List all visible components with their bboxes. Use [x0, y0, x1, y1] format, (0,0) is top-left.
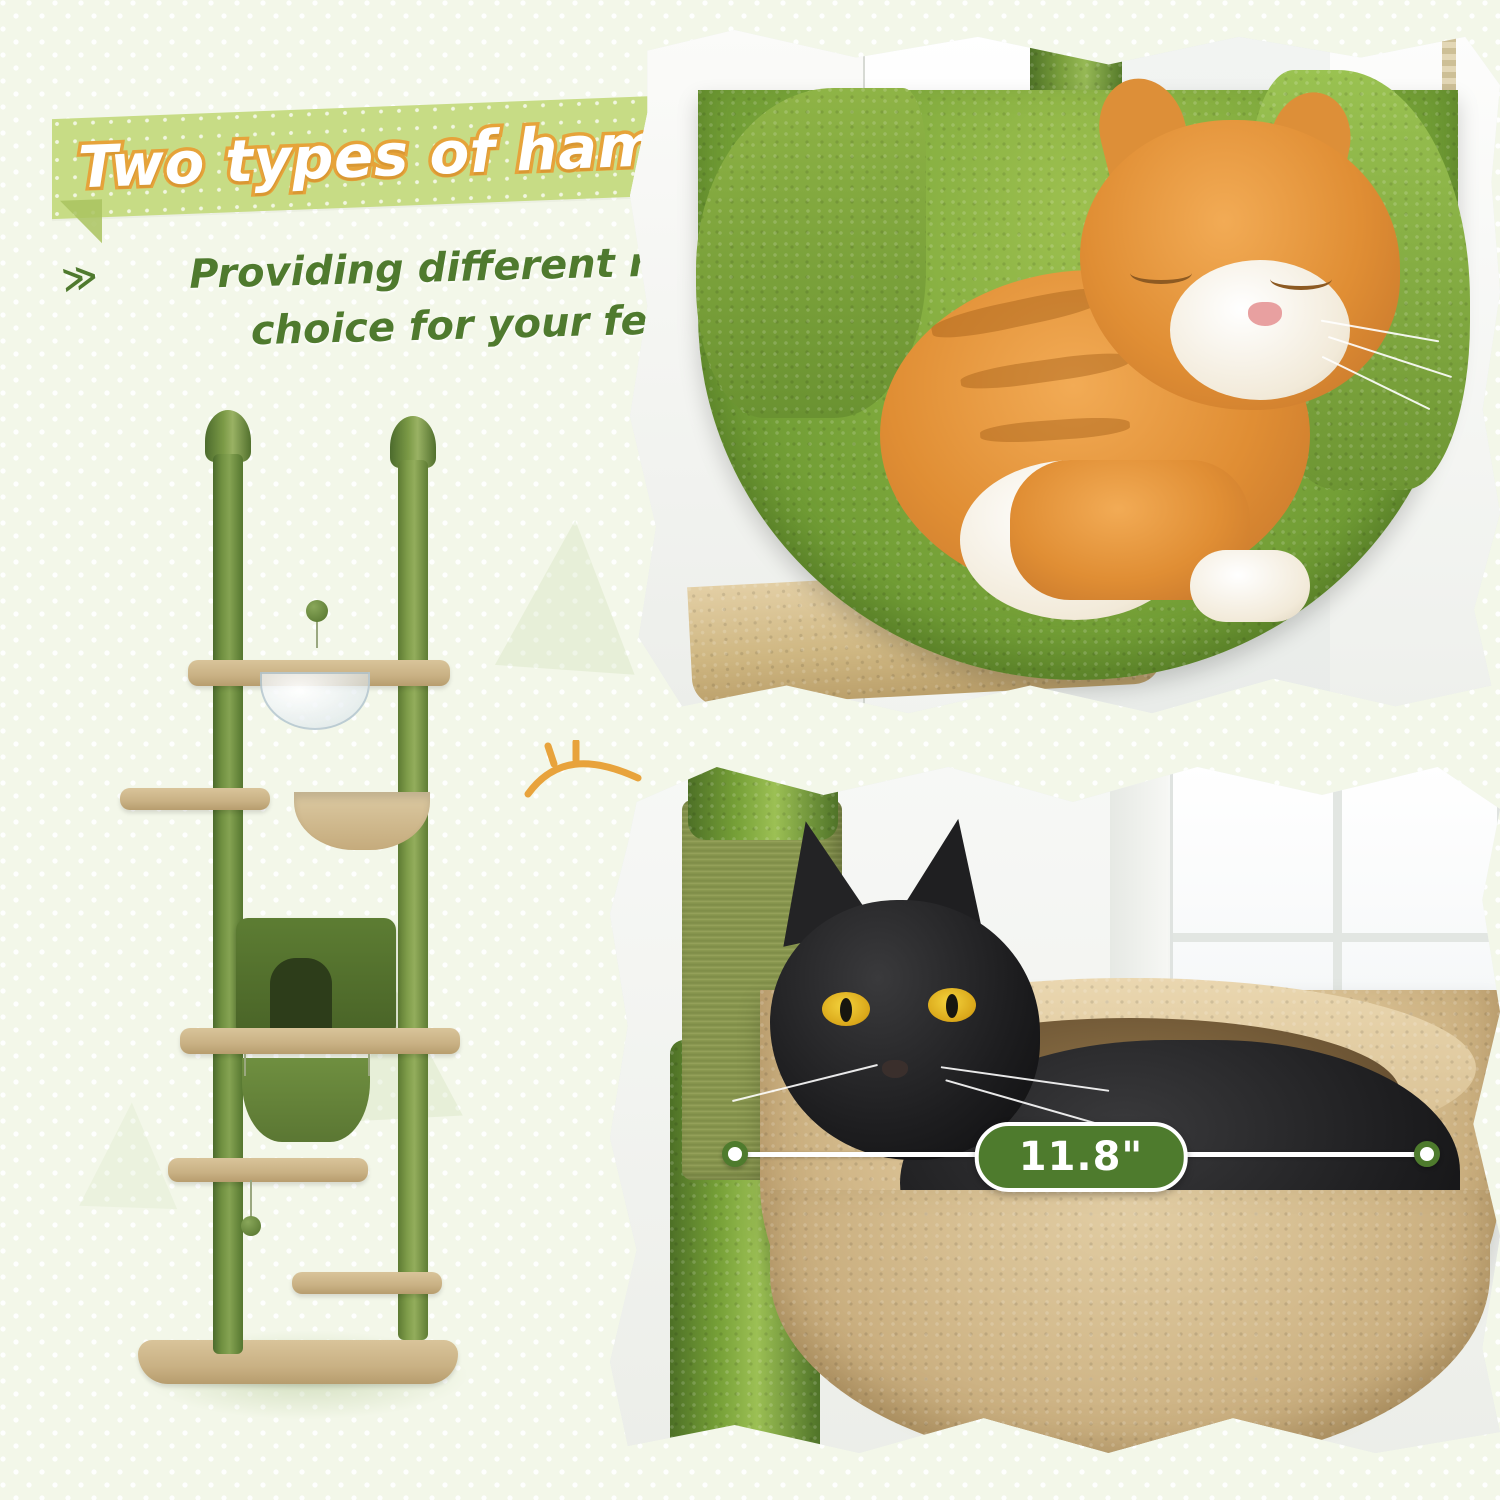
- measurement-badge: 11.8": [722, 1122, 1440, 1186]
- toy-string-lower: [250, 1180, 252, 1220]
- measurement-endpoint-right-icon: [1414, 1141, 1440, 1167]
- poster-canvas: Two types of hammock ≫ ≫ Providing diffe…: [0, 0, 1500, 1500]
- toy-ball-lower: [241, 1216, 261, 1236]
- orange-cat-eye-right: [1270, 268, 1332, 290]
- hammock-strap-right: [368, 1054, 370, 1076]
- cat-tree-illustration: [110, 410, 510, 1440]
- condo-entrance: [270, 958, 332, 1038]
- clear-dome: [260, 672, 370, 730]
- mid-platform: [180, 1028, 460, 1054]
- photo-black-cat-basket: [610, 760, 1500, 1460]
- orange-cat-paw: [1190, 550, 1310, 622]
- orange-cat-nose: [1248, 302, 1282, 326]
- left-small-platform: [120, 788, 270, 810]
- squiggle-arrow-icon: [520, 740, 650, 830]
- photo-orange-cat-hammock: [630, 30, 1500, 720]
- headline-ribbon-tail: [60, 199, 102, 244]
- measurement-endpoint-left-icon: [722, 1141, 748, 1167]
- lower-platform: [168, 1158, 368, 1182]
- right-post: [398, 460, 428, 1340]
- measurement-value: 11.8": [975, 1122, 1188, 1192]
- bottom-platform: [292, 1272, 442, 1294]
- black-cat-pupil-right: [946, 994, 958, 1018]
- black-cat-nose: [882, 1060, 908, 1078]
- subtitle-mark-left-icon: ≫: [59, 256, 100, 301]
- left-post: [213, 454, 243, 1354]
- decorative-triangle-1: [495, 515, 645, 674]
- green-hammock: [242, 1058, 370, 1142]
- toy-ball-top: [306, 600, 328, 622]
- hammock-strap-left: [244, 1054, 246, 1076]
- base-board: [138, 1340, 458, 1384]
- black-cat-pupil-left: [840, 998, 852, 1022]
- orange-cat-eye-left: [1130, 262, 1192, 284]
